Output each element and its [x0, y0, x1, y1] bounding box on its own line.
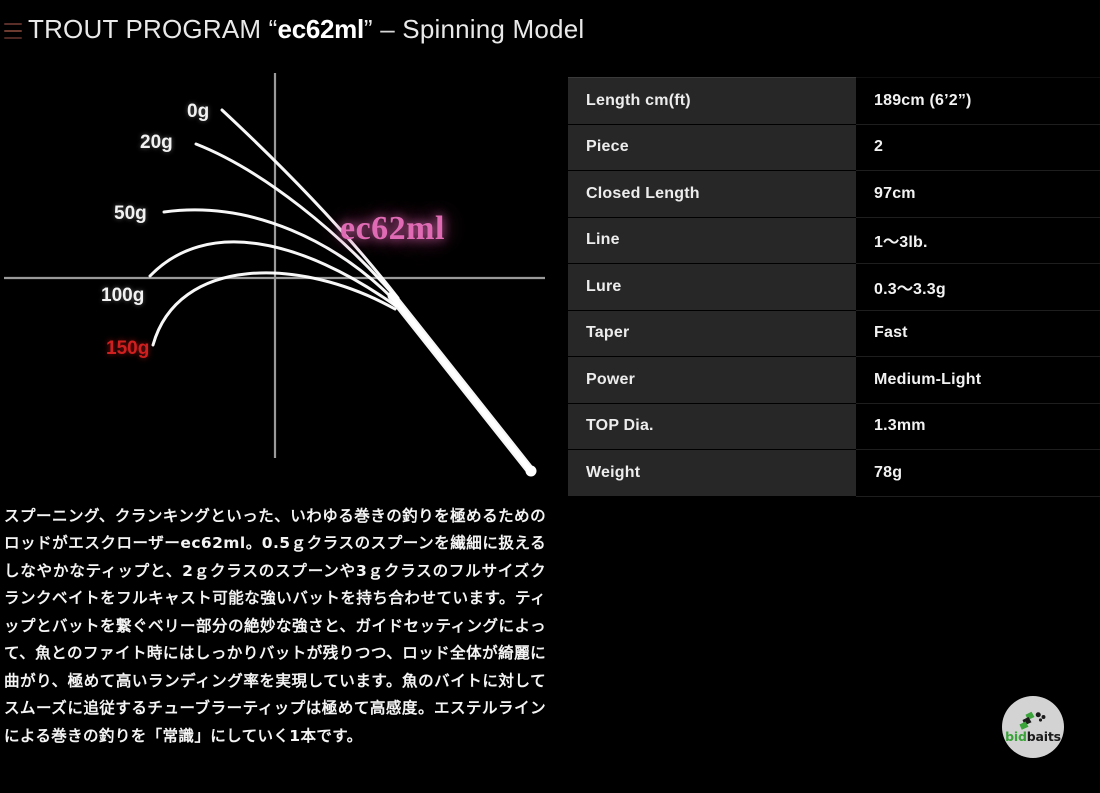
- spec-label-line: Line: [568, 217, 856, 264]
- bidbaits-wordmark: bidbaits: [1005, 731, 1061, 744]
- bend-curve-svg: [0, 60, 560, 490]
- spec-label-length: Length cm(ft): [568, 78, 856, 125]
- table-row: Closed Length 97cm: [568, 171, 1100, 218]
- spec-label-power: Power: [568, 357, 856, 404]
- page-header: TROUT PROGRAM “ec62ml” – Spinning Model: [0, 0, 1100, 58]
- title-model-name: ec62ml: [278, 14, 364, 44]
- table-row: Length cm(ft) 189cm (6’2”): [568, 78, 1100, 125]
- model-logo-text: ec62ml: [340, 210, 445, 248]
- menu-bar-2: [4, 30, 22, 32]
- weight-label-100g: 100g: [101, 285, 144, 307]
- spec-value-top-dia: 1.3mm: [856, 403, 1100, 450]
- spec-value-line: 1〜3lb.: [856, 217, 1100, 264]
- table-row: Line 1〜3lb.: [568, 217, 1100, 264]
- spec-label-weight: Weight: [568, 450, 856, 497]
- table-row: Lure 0.3〜3.3g: [568, 264, 1100, 311]
- spec-value-length: 189cm (6’2”): [856, 78, 1100, 125]
- table-row: Power Medium-Light: [568, 357, 1100, 404]
- title-prefix: TROUT PROGRAM: [28, 14, 269, 44]
- title-suffix: Spinning Model: [402, 14, 584, 44]
- title-dash: –: [373, 14, 403, 44]
- rod-blank: [392, 296, 537, 477]
- spec-value-closed-length: 97cm: [856, 171, 1100, 218]
- spec-label-closed-length: Closed Length: [568, 171, 856, 218]
- spec-value-power: Medium-Light: [856, 357, 1100, 404]
- specification-table: Length cm(ft) 189cm (6’2”) Piece 2 Close…: [568, 77, 1100, 497]
- weight-label-50g: 50g: [114, 203, 147, 225]
- menu-bar-1: [4, 23, 22, 25]
- quote-close: ”: [364, 14, 373, 44]
- bidbaits-watermark-badge[interactable]: bidbaits: [1002, 696, 1064, 758]
- spec-label-lure: Lure: [568, 264, 856, 311]
- quote-open: “: [269, 14, 278, 44]
- brand-baits: baits: [1027, 729, 1061, 744]
- spec-label-piece: Piece: [568, 124, 856, 171]
- specification-table-body: Length cm(ft) 189cm (6’2”) Piece 2 Close…: [568, 78, 1100, 497]
- brand-bid: bid: [1005, 729, 1027, 744]
- spec-label-top-dia: TOP Dia.: [568, 403, 856, 450]
- spec-label-taper: Taper: [568, 310, 856, 357]
- hamburger-menu-icon[interactable]: [4, 23, 22, 39]
- spec-value-lure: 0.3〜3.3g: [856, 264, 1100, 311]
- spec-value-taper: Fast: [856, 310, 1100, 357]
- weight-label-0g: 0g: [187, 101, 209, 123]
- spec-value-piece: 2: [856, 124, 1100, 171]
- table-row: Piece 2: [568, 124, 1100, 171]
- table-row: Weight 78g: [568, 450, 1100, 497]
- product-description: スプーニング、クランキングといった、いわゆる巻きの釣りを極めるためのロッドがエス…: [4, 503, 546, 751]
- rod-bend-curve-diagram: ec62ml 0g 20g 50g 100g 150g: [0, 60, 560, 490]
- menu-bar-3: [4, 37, 22, 39]
- table-row: TOP Dia. 1.3mm: [568, 403, 1100, 450]
- weight-label-20g: 20g: [140, 132, 173, 154]
- table-row: Taper Fast: [568, 310, 1100, 357]
- spec-value-weight: 78g: [856, 450, 1100, 497]
- weight-label-150g: 150g: [106, 338, 149, 360]
- page-title: TROUT PROGRAM “ec62ml” – Spinning Model: [28, 16, 584, 42]
- bidbaits-logo-icon: [1018, 710, 1048, 730]
